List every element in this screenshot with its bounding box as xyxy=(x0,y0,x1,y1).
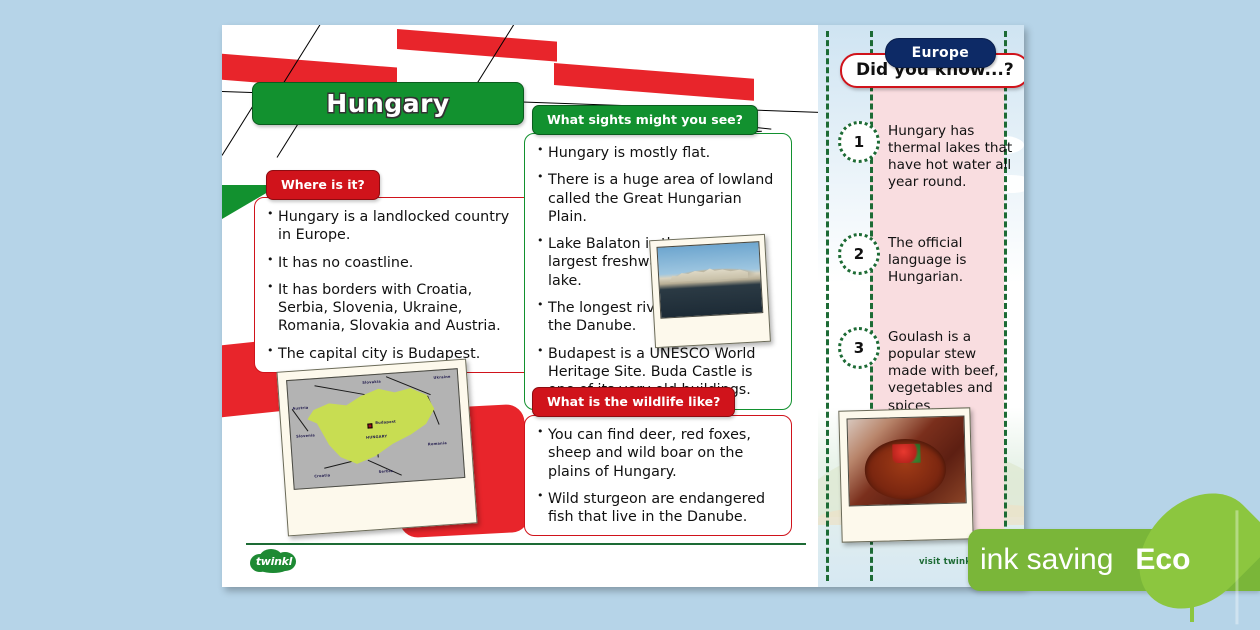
red-stripe-2 xyxy=(397,29,557,62)
section-heading-where-is-it: Where is it? xyxy=(266,170,380,200)
did-you-know-sidebar: Did you know...? 1 Hungary has thermal l… xyxy=(818,25,1024,587)
bullet-list-wildlife: You can find deer, red foxes, sheep and … xyxy=(537,426,779,526)
bullet-list-where-is-it: Hungary is a landlocked country in Europ… xyxy=(267,208,523,363)
fact-number-badge: 3 xyxy=(838,327,880,369)
worksheet-page: Europe Hungary Where is it? Hungary is a… xyxy=(222,25,1024,587)
dashed-divider-right xyxy=(1004,31,1007,581)
list-item: It has borders with Croatia, Serbia, Slo… xyxy=(267,281,523,336)
photo-buda-castle xyxy=(649,234,771,348)
photo-image-castle xyxy=(656,241,763,319)
ink-saving-label: ink saving xyxy=(980,543,1113,577)
section-box-where-is-it: Hungary is a landlocked country in Europ… xyxy=(254,197,536,373)
photo-map-of-hungary: Budapest HUNGARY Slovakia Ukraine Austri… xyxy=(276,359,477,537)
ink-saving-watermark: ink saving Eco xyxy=(980,536,1250,584)
fact-text: Hungary has thermal lakes that have hot … xyxy=(888,121,1014,192)
list-item: Hungary is a landlocked country in Europ… xyxy=(267,208,523,245)
hairline-3 xyxy=(477,25,519,84)
twinkl-logo-text: twinkl xyxy=(250,549,298,573)
list-item: It has no coastline. xyxy=(267,254,523,272)
screenshot-canvas: Europe Hungary Where is it? Hungary is a… xyxy=(0,0,1260,630)
fact-number-badge: 2 xyxy=(838,233,880,275)
page-title: Hungary xyxy=(252,82,524,125)
section-box-wildlife: You can find deer, red foxes, sheep and … xyxy=(524,415,792,536)
fact-text: Goulash is a popular stew made with beef… xyxy=(888,327,1014,415)
footer-divider xyxy=(246,543,806,545)
section-heading-sights: What sights might you see? xyxy=(532,105,758,135)
list-item: Wild sturgeon are endangered fish that l… xyxy=(537,490,779,527)
list-item: You can find deer, red foxes, sheep and … xyxy=(537,426,779,481)
list-item: There is a huge area of lowland called t… xyxy=(537,171,779,226)
fact-number-badge: 1 xyxy=(838,121,880,163)
list-item: The capital city is Budapest. xyxy=(267,345,523,363)
photo-image-goulash xyxy=(847,415,967,506)
photo-goulash xyxy=(838,407,973,542)
eco-label: Eco xyxy=(1135,543,1190,577)
list-item: Hungary is mostly flat. xyxy=(537,144,779,162)
region-badge-europe[interactable]: Europe xyxy=(885,38,996,68)
twinkl-logo[interactable]: twinkl xyxy=(250,549,298,573)
fact-text: The official language is Hungarian. xyxy=(888,233,1014,286)
hairline-2 xyxy=(282,25,331,86)
dashed-divider-left xyxy=(826,31,829,581)
photo-image-map: Budapest HUNGARY Slovakia Ukraine Austri… xyxy=(286,368,465,490)
fact-item-2: 2 The official language is Hungarian. xyxy=(838,233,1014,286)
map-capital-marker xyxy=(367,423,372,428)
hairline-4 xyxy=(222,104,254,155)
fact-item-3: 3 Goulash is a popular stew made with be… xyxy=(838,327,1014,415)
section-heading-wildlife: What is the wildlife like? xyxy=(532,387,735,417)
red-stripe-3 xyxy=(554,63,754,101)
fact-item-1: 1 Hungary has thermal lakes that have ho… xyxy=(838,121,1014,192)
page-title-text: Hungary xyxy=(326,89,449,118)
